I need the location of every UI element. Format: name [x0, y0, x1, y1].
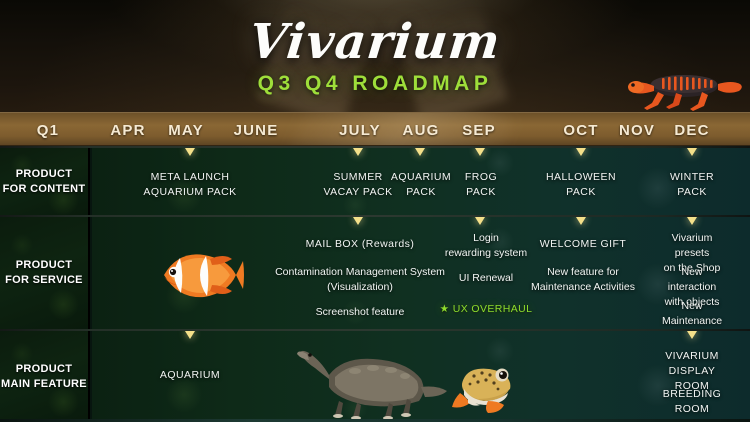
roadmap-item-highlight[interactable]: ★ UX OVERHAUL [440, 302, 533, 317]
row-separator [0, 215, 750, 217]
month-label-dec: DEC [674, 122, 709, 139]
month-label-may: MAY [168, 122, 204, 139]
milestone-marker [475, 148, 485, 156]
milestone-marker [687, 331, 697, 339]
month-label-q1: Q1 [37, 122, 59, 139]
month-label-oct: OCT [563, 122, 598, 139]
milestone-marker [576, 148, 586, 156]
milestone-marker [185, 331, 195, 339]
roadmap-item[interactable]: META LAUNCH AQUARIUM PACK [143, 170, 236, 200]
month-label-sep: SEP [462, 122, 496, 139]
roadmap-item[interactable]: WELCOME GIFT [540, 237, 626, 252]
roadmap-item[interactable]: AQUARIUM [160, 368, 220, 383]
roadmap-item[interactable]: Contamination Management System (Visuali… [275, 265, 445, 295]
roadmap-row-product-for-content: PRODUCT FOR CONTENT META LAUNCH AQUARIUM… [0, 146, 750, 215]
month-label-nov: NOV [619, 122, 655, 139]
roadmap-item[interactable]: AQUARIUM PACK [391, 170, 451, 200]
roadmap-item[interactable]: UI Renewal [459, 271, 513, 286]
milestone-marker [576, 217, 586, 225]
milestone-marker [185, 148, 195, 156]
month-label-june: JUNE [234, 122, 279, 139]
roadmap-item[interactable]: New feature for Maintenance Activities [531, 265, 635, 295]
row-track-product-for-content: META LAUNCH AQUARIUM PACK SUMMER VACAY P… [92, 148, 750, 215]
row-track-product-for-service: MAIL BOX (Rewards) Contamination Managem… [92, 217, 750, 329]
row-label-product-main-feature: PRODUCT MAIN FEATURE [0, 331, 90, 422]
roadmap-row-product-for-service: PRODUCT FOR SERVICE [0, 215, 750, 329]
hero-banner: Vivarium Q3 Q4 ROADMAP [0, 0, 750, 112]
row-label-text: PRODUCT FOR CONTENT [3, 167, 86, 197]
roadmap-item[interactable]: SUMMER VACAY PACK [323, 170, 392, 200]
roadmap-item[interactable]: HALLOWEEN PACK [546, 170, 616, 200]
roadmap-item[interactable]: MAIL BOX (Rewards) [306, 237, 415, 252]
lizard-large-icon [295, 335, 450, 419]
milestone-marker [687, 217, 697, 225]
milestone-marker [353, 148, 363, 156]
roadmap-row-product-main-feature: PRODUCT MAIN FEATURE [0, 329, 750, 422]
roadmap-item[interactable]: New Maintenance Activities [662, 299, 722, 329]
clownfish-icon [150, 241, 245, 309]
row-label-product-for-service: PRODUCT FOR SERVICE [0, 217, 90, 329]
roadmap-page: Vivarium Q3 Q4 ROADMAP [0, 0, 750, 422]
timeline-month-bar: Q1 APR MAY JUNE JULY AUG SEP OCT NOV DEC [0, 112, 750, 146]
roadmap-item[interactable]: Login rewarding system [445, 231, 527, 261]
lizard-icon [614, 58, 744, 112]
milestone-marker [415, 148, 425, 156]
row-label-text: PRODUCT MAIN FEATURE [1, 362, 87, 392]
month-label-aug: AUG [403, 122, 440, 139]
frog-icon [448, 359, 522, 415]
roadmap-grid: PRODUCT FOR CONTENT META LAUNCH AQUARIUM… [0, 146, 750, 422]
row-track-product-main-feature: AQUARIUM VIVARIUM DISPLAY ROOM BREEDING … [92, 331, 750, 422]
month-label-apr: APR [110, 122, 145, 139]
roadmap-item[interactable]: BREEDING ROOM [663, 387, 721, 417]
roadmap-item[interactable]: Screenshot feature [316, 305, 405, 320]
milestone-marker [353, 217, 363, 225]
month-label-july: JULY [339, 122, 381, 139]
row-separator [0, 329, 750, 331]
milestone-marker [475, 217, 485, 225]
row-label-product-for-content: PRODUCT FOR CONTENT [0, 148, 90, 215]
milestone-marker [687, 148, 697, 156]
row-separator [0, 146, 750, 148]
row-label-text: PRODUCT FOR SERVICE [5, 258, 83, 288]
roadmap-item[interactable]: WINTER PACK [670, 170, 714, 200]
roadmap-item[interactable]: FROG PACK [465, 170, 497, 200]
